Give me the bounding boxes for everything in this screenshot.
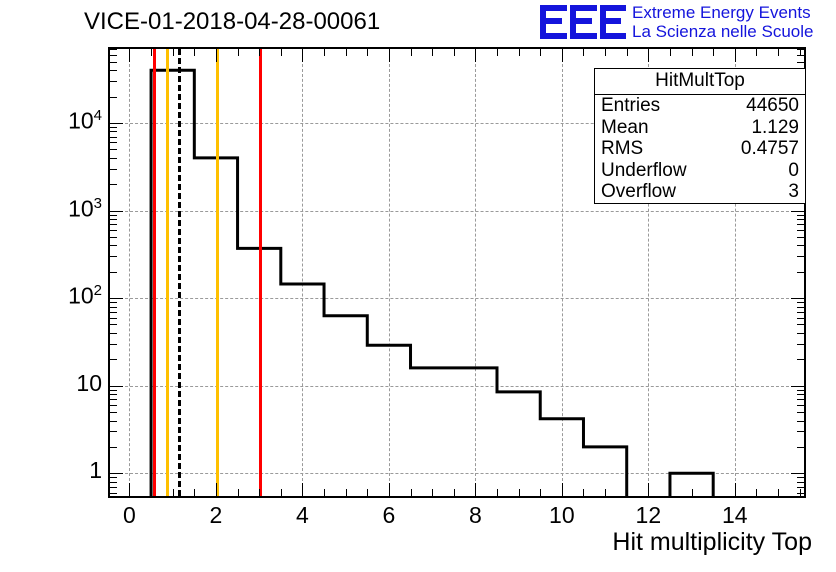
- y-axis-tick: [797, 62, 804, 63]
- x-axis-tick: [670, 489, 671, 496]
- y-axis-tick: [797, 302, 804, 303]
- x-axis-tick: [216, 483, 217, 496]
- y-axis-tick: [791, 298, 804, 299]
- x-axis-tick: [324, 489, 325, 496]
- x-axis-tick: [432, 489, 433, 496]
- y-axis-tick: [110, 127, 117, 128]
- x-axis-tick: [627, 489, 628, 496]
- y-axis-tick: [110, 55, 117, 56]
- y-axis-tick: [110, 169, 117, 170]
- y-axis-tick: [110, 447, 117, 448]
- y-axis-tick: [797, 312, 804, 313]
- y-axis-tick: [110, 487, 117, 488]
- eee-logo-text: Extreme Energy Events La Scienza nelle S…: [632, 3, 813, 41]
- y-axis-tick: [797, 447, 804, 448]
- x-axis-tick: [389, 49, 390, 62]
- stats-box: HitMultTop Entries44650Mean1.129RMS0.475…: [594, 68, 806, 204]
- root-canvas: VICE-01-2018-04-28-00061: [0, 0, 836, 572]
- y-axis-tick: [110, 318, 117, 319]
- x-axis-tick: [151, 49, 152, 56]
- stats-key: Mean: [601, 117, 649, 139]
- x-axis-tick: [800, 489, 801, 496]
- y-axis-tick: [110, 399, 117, 400]
- y-axis-tick: [797, 399, 804, 400]
- x-axis-tick: [519, 489, 520, 496]
- y-axis-tick: [797, 256, 804, 257]
- y-axis-tick: [797, 412, 804, 413]
- y-axis-tick: [797, 431, 804, 432]
- x-axis-tick: [367, 489, 368, 496]
- y-axis-tick: [110, 158, 117, 159]
- y-axis-tick: [797, 230, 804, 231]
- y-axis-tick: [797, 237, 804, 238]
- y-axis-label: 104: [10, 107, 102, 135]
- y-axis-tick: [797, 477, 804, 478]
- x-axis-tick: [562, 49, 563, 62]
- y-axis-tick: [797, 318, 804, 319]
- y-axis-tick: [110, 344, 117, 345]
- y-axis-tick: [791, 386, 804, 387]
- x-axis-tick: [562, 483, 563, 496]
- x-axis-tick: [713, 49, 714, 56]
- x-axis-tick: [238, 49, 239, 56]
- x-axis-label: 8: [445, 502, 505, 529]
- x-axis-tick: [129, 483, 130, 496]
- y-axis-tick: [110, 49, 117, 50]
- x-axis-tick: [281, 49, 282, 56]
- y-axis-tick: [797, 333, 804, 334]
- x-axis-label: 4: [272, 502, 332, 529]
- y-axis-tick: [110, 412, 117, 413]
- stats-value: 0.4757: [741, 138, 799, 160]
- stats-value: 44650: [746, 95, 799, 117]
- x-axis-tick: [302, 49, 303, 62]
- y-axis-tick: [797, 272, 804, 273]
- x-axis-tick: [648, 483, 649, 496]
- x-axis-tick: [302, 483, 303, 496]
- y-axis-tick: [797, 421, 804, 422]
- y-axis-tick: [110, 394, 117, 395]
- x-axis-tick: [173, 49, 174, 56]
- y-axis-tick: [110, 123, 123, 124]
- x-axis-tick: [389, 483, 390, 496]
- y-axis-tick: [110, 184, 117, 185]
- y-axis-tick: [110, 390, 117, 391]
- stats-key: Underflow: [601, 160, 687, 182]
- x-axis-tick: [454, 49, 455, 56]
- stats-key: Overflow: [601, 181, 676, 203]
- x-axis-tick: [259, 489, 260, 496]
- x-axis-tick: [778, 49, 779, 56]
- x-axis-tick: [129, 49, 130, 62]
- y-axis-tick: [110, 137, 117, 138]
- eee-mark-icon: [540, 5, 626, 39]
- y-axis-tick: [110, 237, 117, 238]
- stats-row: Entries44650: [595, 95, 805, 117]
- x-axis-tick: [519, 49, 520, 56]
- stats-row: RMS0.4757: [595, 138, 805, 160]
- x-axis-tick: [735, 49, 736, 62]
- y-axis-tick: [797, 487, 804, 488]
- y-axis-tick: [110, 333, 117, 334]
- x-axis-label: 0: [99, 502, 159, 529]
- y-axis-tick: [797, 245, 804, 246]
- y-axis-tick: [110, 215, 117, 216]
- y-axis-tick: [110, 302, 117, 303]
- x-axis-tick: [735, 483, 736, 496]
- x-axis-tick: [432, 49, 433, 56]
- y-axis-tick: [797, 405, 804, 406]
- y-axis-tick: [110, 219, 117, 220]
- stats-row: Mean1.129: [595, 117, 805, 139]
- y-axis-tick: [110, 211, 123, 212]
- y-axis-tick: [110, 142, 117, 143]
- y-axis-tick: [791, 211, 804, 212]
- x-axis-tick: [497, 49, 498, 56]
- x-axis-tick: [605, 489, 606, 496]
- y-axis-tick: [797, 324, 804, 325]
- y-axis-tick: [110, 149, 117, 150]
- y-axis-tick: [110, 312, 117, 313]
- y-axis-tick: [791, 473, 804, 474]
- y-axis-tick: [110, 482, 117, 483]
- x-axis-tick: [756, 49, 757, 56]
- x-axis-tick: [713, 489, 714, 496]
- x-axis-tick: [475, 483, 476, 496]
- x-axis-tick: [583, 489, 584, 496]
- x-axis-label: 6: [359, 502, 419, 529]
- stats-row: Underflow0: [595, 160, 805, 182]
- stats-rows: Entries44650Mean1.129RMS0.4757Underflow0…: [595, 95, 805, 203]
- x-axis-tick: [540, 489, 541, 496]
- y-axis-tick: [110, 224, 117, 225]
- stats-key: RMS: [601, 138, 643, 160]
- x-axis-tick: [216, 49, 217, 62]
- x-axis-tick: [194, 489, 195, 496]
- y-axis-tick: [110, 324, 117, 325]
- y-axis-tick: [110, 477, 117, 478]
- stats-value: 1.129: [751, 117, 799, 139]
- stats-row: Overflow3: [595, 181, 805, 203]
- y-axis-tick: [110, 70, 117, 71]
- x-axis-tick: [346, 49, 347, 56]
- x-axis-tick: [540, 49, 541, 56]
- x-axis-tick: [800, 49, 801, 56]
- x-axis-tick: [627, 49, 628, 56]
- x-axis-tick: [367, 49, 368, 56]
- y-axis-tick: [797, 344, 804, 345]
- x-axis-tick: [497, 489, 498, 496]
- y-axis-tick: [110, 307, 117, 308]
- y-axis-tick: [110, 386, 123, 387]
- x-axis-tick: [194, 49, 195, 56]
- y-axis-tick: [797, 215, 804, 216]
- y-axis-tick: [797, 359, 804, 360]
- y-axis-label: 103: [10, 195, 102, 223]
- y-axis-tick: [110, 431, 117, 432]
- y-axis-tick: [110, 81, 117, 82]
- x-axis-tick: [454, 489, 455, 496]
- x-axis-tick: [648, 49, 649, 62]
- stats-value: 3: [788, 181, 799, 203]
- stats-key: Entries: [601, 95, 660, 117]
- eee-logo: Extreme Energy Events La Scienza nelle S…: [540, 2, 832, 44]
- x-axis-tick: [173, 489, 174, 496]
- x-axis-tick: [151, 489, 152, 496]
- y-axis-tick: [797, 482, 804, 483]
- y-axis-tick: [797, 219, 804, 220]
- x-axis-tick: [281, 489, 282, 496]
- y-axis-tick: [110, 272, 117, 273]
- x-axis-tick: [778, 489, 779, 496]
- page-title: VICE-01-2018-04-28-00061: [84, 8, 380, 36]
- y-axis-tick: [110, 230, 117, 231]
- y-axis-tick: [797, 394, 804, 395]
- y-axis-label: 1: [10, 457, 102, 484]
- x-axis-tick: [583, 49, 584, 56]
- x-axis-tick: [259, 49, 260, 56]
- eee-logo-line1: Extreme Energy Events: [632, 3, 811, 22]
- y-axis-tick: [110, 131, 117, 132]
- x-axis-tick: [411, 489, 412, 496]
- x-axis-tick: [411, 49, 412, 56]
- x-axis-label: 14: [705, 502, 765, 529]
- x-axis-label: 2: [186, 502, 246, 529]
- y-axis-label: 10: [10, 370, 102, 397]
- y-axis-tick: [110, 97, 117, 98]
- y-axis-tick: [110, 256, 117, 257]
- stats-value: 0: [788, 160, 799, 182]
- x-axis-tick: [692, 489, 693, 496]
- x-axis-label: 12: [618, 502, 678, 529]
- y-axis-label: 102: [10, 282, 102, 310]
- y-axis-tick: [110, 62, 117, 63]
- eee-logo-line2: La Scienza nelle Scuole: [632, 22, 813, 41]
- x-axis-tick: [475, 49, 476, 62]
- x-axis-tick: [238, 489, 239, 496]
- x-axis-tick: [346, 489, 347, 496]
- y-axis-tick: [110, 405, 117, 406]
- x-axis-tick: [670, 49, 671, 56]
- y-axis-tick: [797, 307, 804, 308]
- x-axis-label: 10: [532, 502, 592, 529]
- y-axis-tick: [110, 298, 123, 299]
- y-axis-tick: [110, 473, 123, 474]
- y-axis-tick: [110, 245, 117, 246]
- y-axis-tick: [110, 359, 117, 360]
- y-axis-tick: [110, 493, 117, 494]
- y-axis-tick: [797, 224, 804, 225]
- x-axis-tick: [692, 49, 693, 56]
- x-axis-tick: [756, 489, 757, 496]
- stats-title: HitMultTop: [595, 69, 805, 95]
- x-axis-title: Hit multiplicity Top: [612, 528, 812, 557]
- y-axis-tick: [110, 421, 117, 422]
- x-axis-tick: [324, 49, 325, 56]
- y-axis-tick: [797, 390, 804, 391]
- x-axis-tick: [605, 49, 606, 56]
